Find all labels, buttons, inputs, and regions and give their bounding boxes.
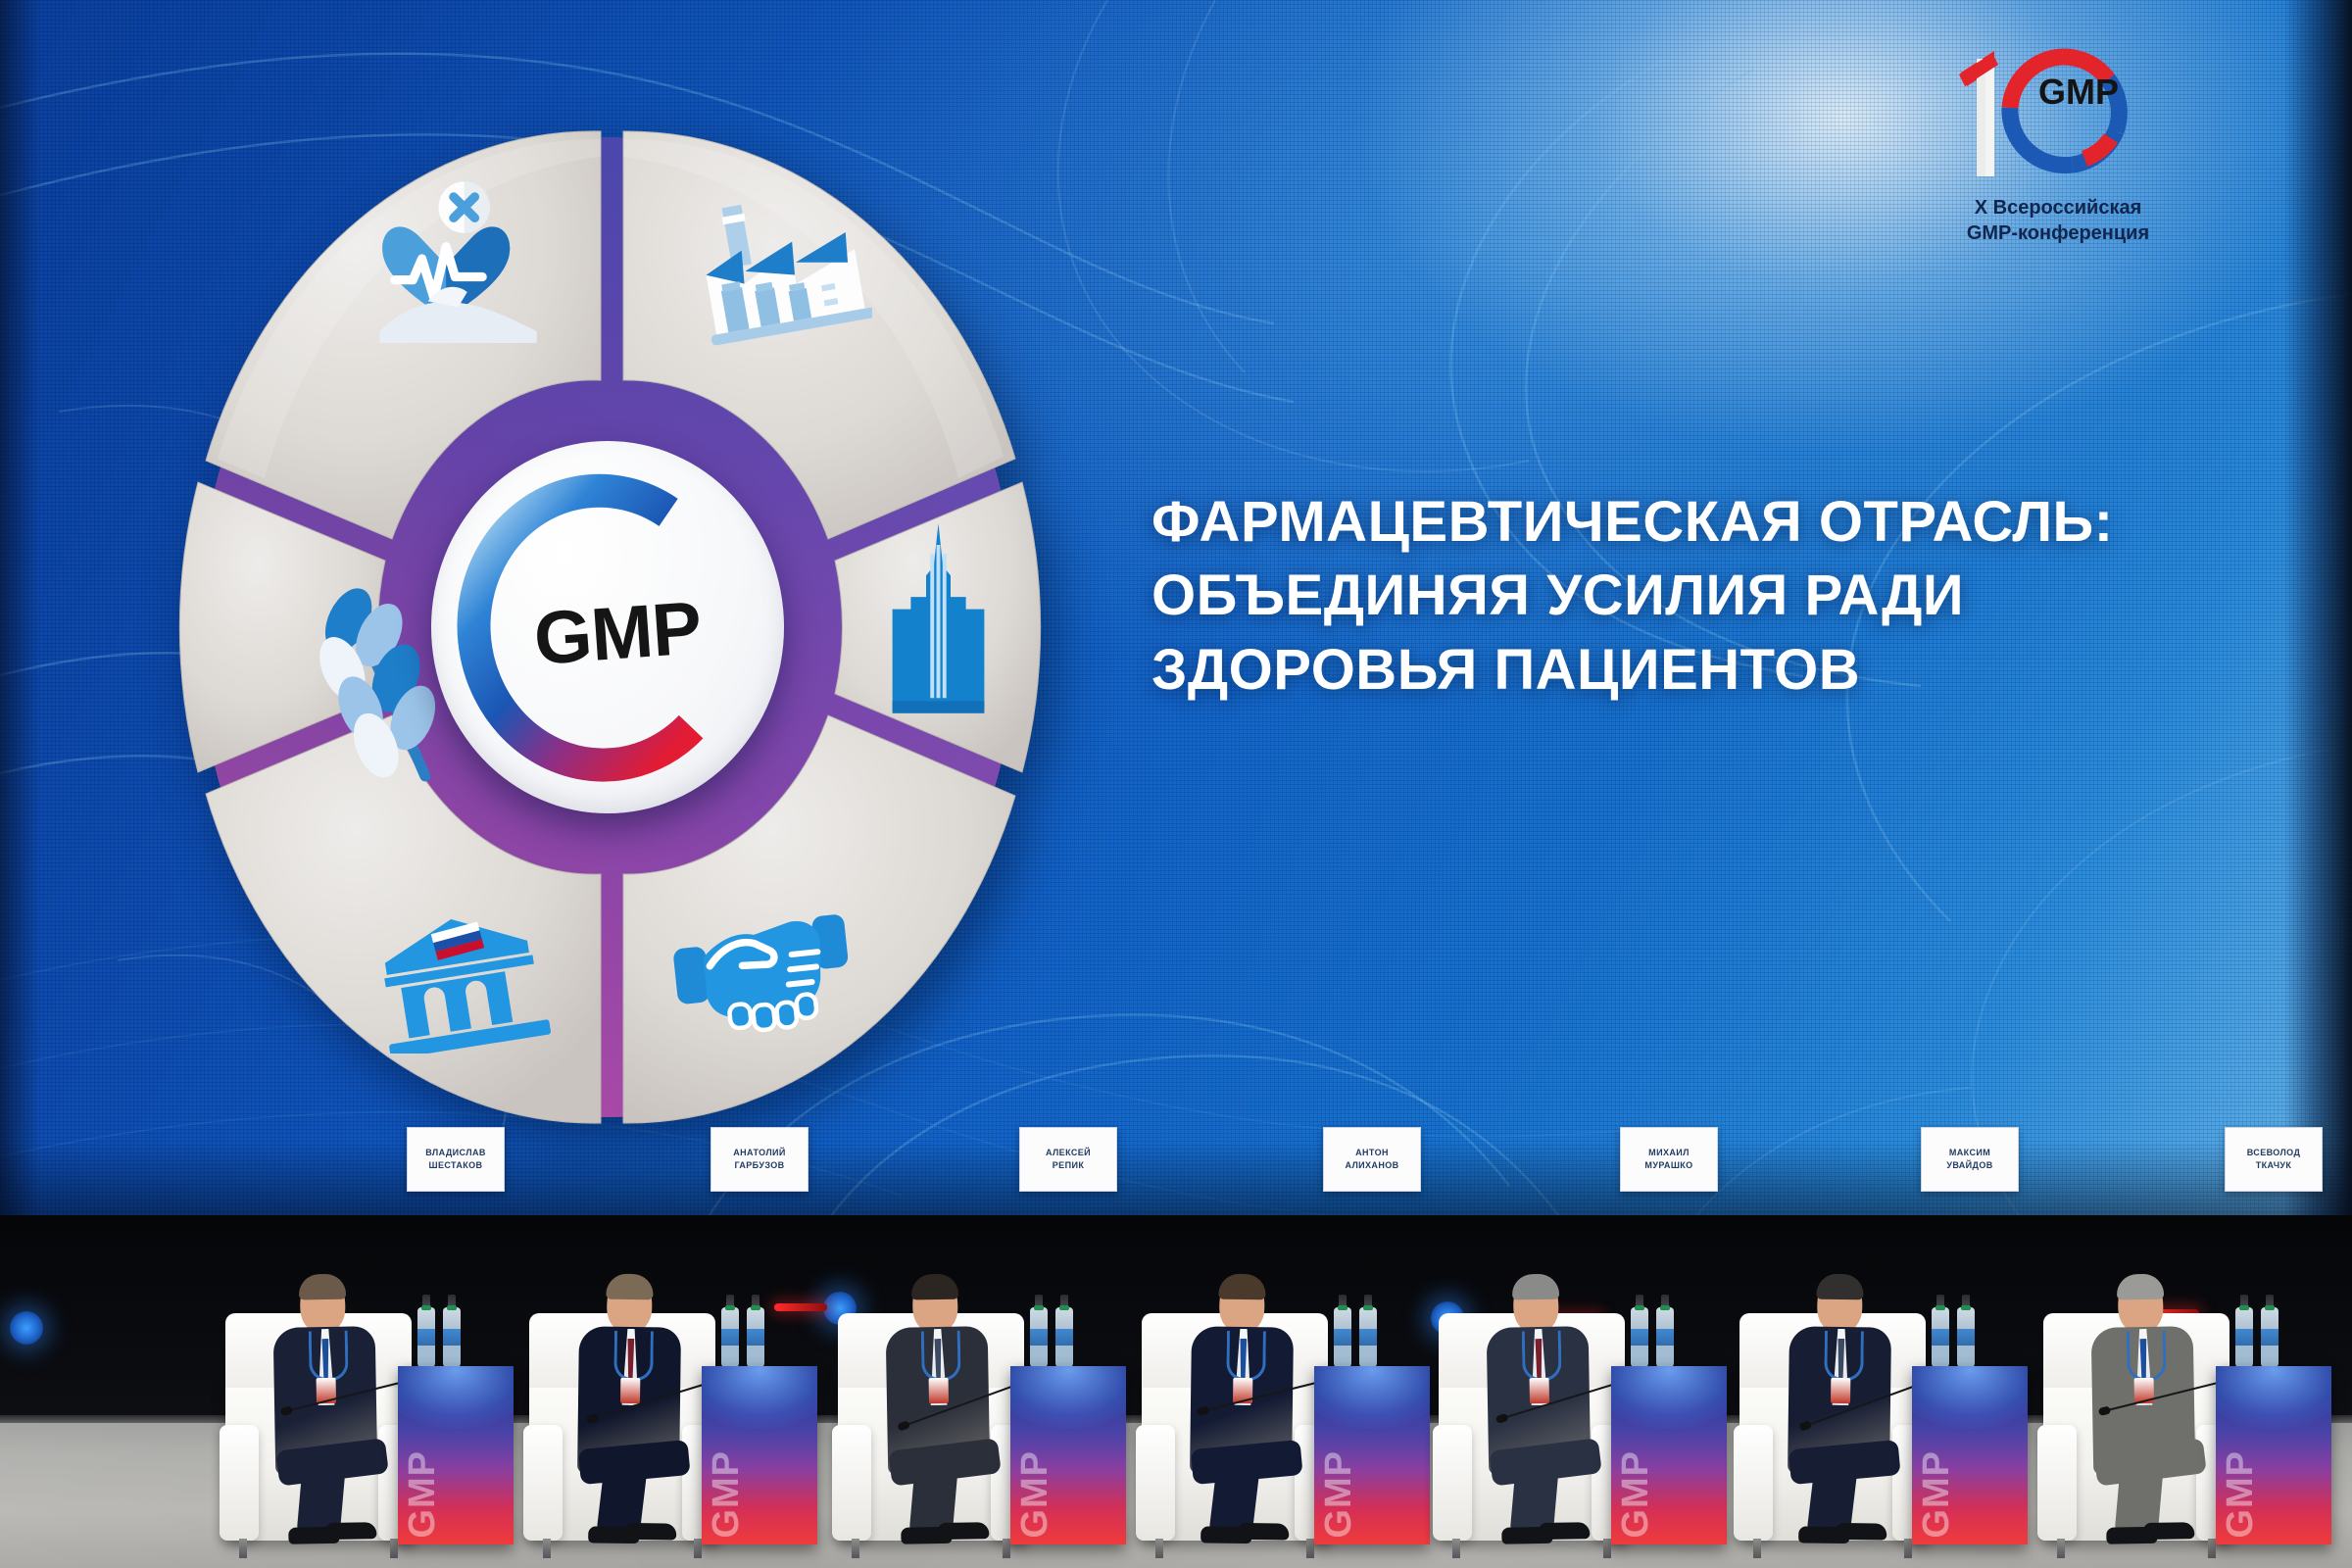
chair-leg [1155,1539,1163,1558]
panelist-lanyard [1522,1331,1562,1382]
bottle-label [2261,1329,2278,1346]
panelist-lanyard [613,1331,654,1382]
panelist-last-name: РЕПИК [1053,1160,1084,1171]
conference-logo: GMP X Всероссийская GMP-конференция [1935,39,2180,265]
name-placard-pedestal: GMP [1314,1366,1430,1544]
bottle-cap-ring [751,1305,760,1310]
panelist-hair [1218,1274,1265,1300]
panelist-shoe [938,1522,989,1540]
logo-mark: GMP [1955,39,2161,186]
stage-uplight [10,1311,43,1345]
panelist-lanyard [1226,1331,1266,1382]
panelist-last-name: УВАЙДОВ [1946,1160,1992,1171]
panelist-figure [2084,1279,2206,1526]
panelist-first-name: АЛЕКСЕЙ [1046,1148,1091,1158]
bottle-cap-ring [1660,1305,1670,1310]
chair-leg [694,1539,702,1558]
bottle-cap-ring [1059,1305,1069,1310]
panelist-first-name: ВСЕВОЛОД [2247,1148,2301,1158]
chair-leg [239,1539,247,1558]
panelist-hair [2117,1274,2164,1300]
gmp-hub-label: GMP [531,585,704,682]
panelist-lanyard [1824,1331,1864,1382]
name-placard-pedestal: GMP [1611,1366,1727,1544]
panelist-seat: GMP ВСЕВОЛОД ТКАЧУК [2043,1156,2337,1568]
slide-title-line-3: ЗДОРОВЬЯ ПАЦИЕНТОВ [1151,633,2151,707]
armrest-left [220,1425,259,1541]
placard-glow [1611,1366,1727,1429]
name-placard-pedestal: GMP [2216,1366,2331,1544]
logo-10-gmp-icon: GMP [1955,39,2161,186]
water-bottle [1055,1307,1073,1368]
bottle-cap-ring [2265,1305,2275,1310]
water-bottle [1359,1307,1377,1368]
bottle-label [443,1329,461,1346]
water-bottle [1631,1307,1648,1368]
name-placard-pedestal: GMP [1912,1366,2028,1544]
slide-title-line-1: ФАРМАЦЕВТИЧЕСКАЯ ОТРАСЛЬ: [1151,485,2151,559]
chair-leg [1306,1539,1314,1558]
panelist-name-card: ВЛАДИСЛАВ ШЕСТАКОВ [407,1127,505,1192]
placard-glow [2216,1366,2331,1429]
panelist-first-name: МАКСИМ [1949,1148,1990,1158]
screen-right-edge [2283,0,2352,1259]
name-placard-pedestal: GMP [702,1366,817,1544]
bottle-label [1957,1329,1975,1346]
bottle-cap-ring [1961,1305,1971,1310]
placard-gmp-text: GMP [706,1450,748,1539]
bottle-cap-ring [1935,1305,1945,1310]
bottle-cap-ring [421,1305,431,1310]
panelist-figure [1480,1279,1601,1526]
slide-title-line-2: ОБЪЕДИНЯЯ УСИЛИЯ РАДИ [1151,559,2151,632]
panelist-seat: GMP МИХАИЛ МУРАШКО [1439,1156,1733,1568]
water-bottle [1334,1307,1351,1368]
bottle-label [417,1329,435,1346]
water-bottle [443,1307,461,1368]
bottle-label [1359,1329,1377,1346]
chair-leg [1753,1539,1761,1558]
bottle-label [721,1329,739,1346]
bottle-label [1631,1329,1648,1346]
panelist-last-name: МУРАШКО [1644,1160,1692,1171]
placard-gmp-text: GMP [1615,1450,1657,1539]
water-bottle [2261,1307,2278,1368]
panelist-figure [879,1279,1001,1526]
bottle-cap-ring [1635,1305,1644,1310]
panelist-name-card: МАКСИМ УВАЙДОВ [1921,1127,2019,1192]
bottle-label [1932,1329,1949,1346]
panelist-shoe [325,1522,376,1540]
bottle-cap-ring [1034,1305,1044,1310]
screen-left-edge [0,0,39,1259]
placard-gmp-text: GMP [2220,1450,2262,1539]
gmp-wheel-diagram: GMP [147,118,1068,1137]
armrest-left [1734,1425,1773,1541]
panelist-name-card: АЛЕКСЕЙ РЕПИК [1019,1127,1117,1192]
water-bottle [417,1307,435,1368]
panelist-name-card: ВСЕВОЛОД ТКАЧУК [2225,1127,2323,1192]
chair-leg [852,1539,859,1558]
panelist-badge [929,1378,949,1403]
panelist-last-name: ГАРБУЗОВ [734,1160,784,1171]
water-bottle [2235,1307,2253,1368]
water-bottle [1656,1307,1674,1368]
chair-leg [1603,1539,1611,1558]
name-placard-pedestal: GMP [1010,1366,1126,1544]
panelist-shoe [1539,1522,1590,1540]
placard-gmp-text: GMP [1318,1450,1360,1539]
panelist-name-card: АНТОН АЛИХАНОВ [1323,1127,1421,1192]
armrest-left [832,1425,871,1541]
chair-leg [1904,1539,1912,1558]
panelist-lanyard [2127,1331,2167,1382]
panelist-seat: GMP МАКСИМ УВАЙДОВ [1739,1156,2033,1568]
slide-title: ФАРМАЦЕВТИЧЕСКАЯ ОТРАСЛЬ: ОБЪЕДИНЯЯ УСИЛ… [1151,485,2151,707]
water-bottle [1957,1307,1975,1368]
panelist-badge [620,1378,640,1403]
svg-text:GMP: GMP [2038,72,2119,112]
panelist-last-name: ТКАЧУК [2256,1160,2292,1171]
panelist-seat: GMP АНТОН АЛИХАНОВ [1142,1156,1436,1568]
panelist-first-name: АНТОН [1355,1148,1389,1158]
placard-gmp-text: GMP [402,1450,444,1539]
conference-stage-photo: GMP ФАРМАЦЕВТИЧЕСКАЯ ОТРАСЛЬ: ОБЪЕДИНЯЯ … [0,0,2352,1568]
panelist-hair [1512,1274,1559,1300]
panelist-badge [1831,1378,1850,1403]
bottle-cap-ring [447,1305,457,1310]
placard-glow [1314,1366,1430,1429]
water-bottle [1030,1307,1048,1368]
panelist-hair [606,1274,653,1300]
panelist-shoe [1836,1523,1886,1541]
bottle-label [2235,1329,2253,1346]
bottle-label [1656,1329,1674,1346]
logo-caption: X Всероссийская GMP-конференция [1935,196,2180,246]
bottle-cap-ring [1338,1305,1347,1310]
chair-leg [2208,1539,2216,1558]
bottle-label [1334,1329,1351,1346]
panelist-first-name: АНАТОЛИЙ [733,1148,786,1158]
panelist-last-name: ШЕСТАКОВ [429,1160,483,1171]
placard-glow [1010,1366,1126,1429]
panelist-figure [1781,1279,1901,1526]
placard-glow [1912,1366,2028,1429]
panelist-first-name: ВЛАДИСЛАВ [425,1148,486,1158]
bottle-label [1030,1329,1048,1346]
water-bottle [1932,1307,1949,1368]
bottle-cap-ring [1363,1305,1373,1310]
panelist-last-name: АЛИХАНОВ [1345,1160,1398,1171]
water-bottle [747,1307,764,1368]
panelist-figure [570,1279,691,1526]
armrest-left [523,1425,563,1541]
placard-gmp-text: GMP [1014,1450,1056,1539]
logo-caption-line-2: GMP-конференция [1935,221,2180,247]
panelist-seat: GMP ВЛАДИСЛАВ ШЕСТАКОВ [225,1156,519,1568]
panelist-lanyard [309,1331,349,1382]
panelist-seat: GMP АНАТОЛИЙ ГАРБУЗОВ [529,1156,823,1568]
panelist-badge [1530,1378,1549,1403]
bottle-label [747,1329,764,1346]
placard-glow [398,1366,514,1429]
panelist-shoe [2143,1522,2194,1540]
armrest-left [1136,1425,1175,1541]
led-screen: GMP ФАРМАЦЕВТИЧЕСКАЯ ОТРАСЛЬ: ОБЪЕДИНЯЯ … [0,0,2352,1259]
panelist-seat: GMP АЛЕКСЕЙ РЕПИК [838,1156,1132,1568]
panelist-name-card: АНАТОЛИЙ ГАРБУЗОВ [710,1127,808,1192]
gmp-hub: GMP [431,441,784,813]
chair-leg [1003,1539,1010,1558]
panelist-lanyard [921,1331,961,1382]
name-placard-pedestal: GMP [398,1366,514,1544]
placard-gmp-text: GMP [1916,1450,1958,1539]
chair-leg [390,1539,398,1558]
panelist-figure [1183,1279,1303,1526]
placard-glow [702,1366,817,1429]
armrest-left [1433,1425,1472,1541]
chair-leg [543,1539,551,1558]
chair-leg [2057,1539,2065,1558]
armrest-left [2037,1425,2077,1541]
panelist-hair [299,1274,346,1300]
water-bottle [721,1307,739,1368]
panelist-first-name: МИХАИЛ [1648,1148,1690,1158]
panelist-figure [267,1279,388,1526]
panelist-hair [911,1274,958,1300]
logo-caption-line-1: X Всероссийская [1935,196,2180,221]
bottle-label [1055,1329,1073,1346]
panelist-hair [1816,1274,1863,1300]
panelist-name-card: МИХАИЛ МУРАШКО [1620,1127,1718,1192]
panelist-shoe [1238,1523,1289,1541]
bottle-cap-ring [725,1305,735,1310]
panelist-shoe [625,1523,676,1541]
chair-leg [1452,1539,1460,1558]
bottle-cap-ring [2239,1305,2249,1310]
